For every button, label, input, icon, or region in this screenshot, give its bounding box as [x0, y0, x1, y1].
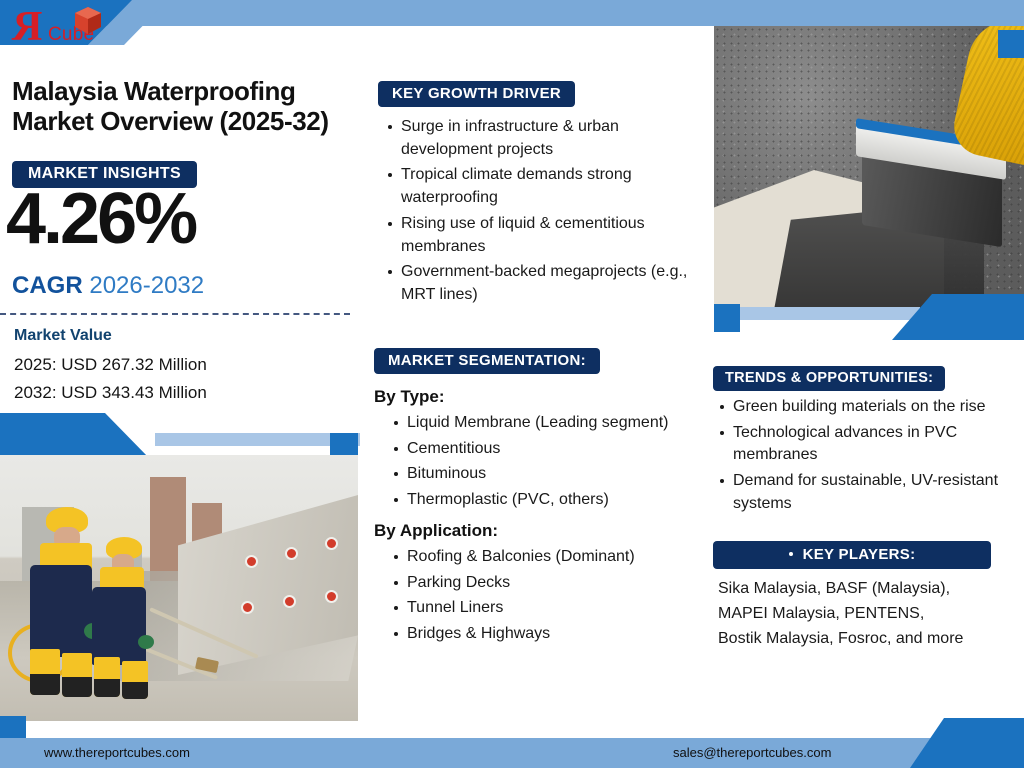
- badge-market-segmentation: MARKET SEGMENTATION:: [374, 348, 600, 374]
- list-item: Rising use of liquid & cementitious memb…: [384, 213, 712, 258]
- photo-boot: [94, 657, 120, 697]
- badge-trends-opportunities: TRENDS & OPPORTUNITIES:: [713, 366, 945, 391]
- list-item: Demand for sustainable, UV-resistant sys…: [716, 470, 1016, 515]
- footer-accent-shape: [910, 718, 1024, 768]
- cagr-caption: CAGR 2026-2032: [12, 274, 204, 298]
- list-item: Green building materials on the rise: [716, 396, 1016, 419]
- key-players-text: Sika Malaysia, BASF (Malaysia), MAPEI Ma…: [718, 577, 1018, 651]
- market-value-2032: 2032: USD 343.43 Million: [14, 383, 207, 403]
- by-application-heading: By Application:: [374, 521, 498, 541]
- infographic-canvas: R Cube Malaysia Waterproofing Market Ove…: [0, 0, 1024, 768]
- decor-bar-right: [740, 307, 920, 320]
- cagr-value: 4.26%: [6, 183, 195, 255]
- photo-wall-marker: [245, 555, 258, 568]
- list-item: Bituminous: [390, 463, 710, 486]
- waterproofing-brush-photo: [714, 26, 1024, 310]
- key-players-line1: Sika Malaysia, BASF (Malaysia),: [718, 577, 1018, 602]
- footer-website[interactable]: www.thereportcubes.com: [44, 745, 190, 760]
- badge-key-growth-driver: KEY GROWTH DRIVER: [378, 81, 575, 107]
- photo-boot: [30, 649, 60, 695]
- decor-triangle-left: [0, 413, 150, 459]
- list-item: Cementitious: [390, 438, 710, 461]
- by-type-list: Liquid Membrane (Leading segment) Cement…: [390, 412, 710, 515]
- list-item: Thermoplastic (PVC, others): [390, 489, 710, 512]
- badge-key-players: KEY PLAYERS:: [713, 541, 991, 569]
- list-item: Parking Decks: [390, 572, 710, 595]
- page-title-line2: Market Overview (2025-32): [12, 106, 357, 136]
- cagr-label: CAGR: [12, 272, 83, 299]
- photo-wall-marker: [241, 601, 254, 614]
- footer-email[interactable]: sales@thereportcubes.com: [673, 745, 831, 760]
- dashed-divider: [0, 313, 350, 315]
- key-growth-driver-list: Surge in infrastructure & urban developm…: [384, 116, 712, 310]
- page-title: Malaysia Waterproofing Market Overview (…: [12, 76, 357, 136]
- key-players-line2: MAPEI Malaysia, PENTENS,: [718, 602, 1018, 627]
- photo-wall-marker: [325, 590, 338, 603]
- list-item: Technological advances in PVC membranes: [716, 422, 1016, 467]
- list-item: Government-backed megaprojects (e.g., MR…: [384, 261, 712, 306]
- list-item: Tropical climate demands strong waterpro…: [384, 164, 712, 209]
- page-title-line1: Malaysia Waterproofing: [12, 76, 357, 106]
- by-type-heading: By Type:: [374, 387, 445, 407]
- market-value-heading: Market Value: [14, 327, 112, 345]
- brand-logo[interactable]: R Cube: [12, 4, 122, 44]
- photo-coveralls: [92, 587, 146, 665]
- photo-wall-marker: [325, 537, 338, 550]
- badge-key-players-label: KEY PLAYERS:: [803, 546, 916, 563]
- list-item: Tunnel Liners: [390, 597, 710, 620]
- photo-worker: [84, 537, 156, 707]
- photo-wall-marker: [285, 547, 298, 560]
- reversed-r-icon: R: [12, 6, 42, 48]
- key-players-line3: Bostik Malaysia, Fosroc, and more: [718, 627, 1018, 652]
- bullet-dot-icon: [789, 552, 793, 556]
- decor-square-top-right: [998, 30, 1024, 58]
- market-value-2025: 2025: USD 267.32 Million: [14, 355, 207, 375]
- list-item: Bridges & Highways: [390, 623, 710, 646]
- trends-opportunities-list: Green building materials on the rise Tec…: [716, 396, 1016, 519]
- list-item: Surge in infrastructure & urban developm…: [384, 116, 712, 161]
- photo-glove: [138, 635, 154, 649]
- photo-boot: [122, 661, 148, 699]
- construction-workers-photo: [0, 455, 358, 721]
- list-item: Liquid Membrane (Leading segment): [390, 412, 710, 435]
- cube-icon: [74, 6, 102, 41]
- cagr-period: 2026-2032: [89, 272, 204, 299]
- list-item: Roofing & Balconies (Dominant): [390, 546, 710, 569]
- photo-wall-marker: [283, 595, 296, 608]
- photo-coveralls: [30, 565, 92, 657]
- decor-square-right: [714, 304, 740, 332]
- by-application-list: Roofing & Balconies (Dominant) Parking D…: [390, 546, 710, 649]
